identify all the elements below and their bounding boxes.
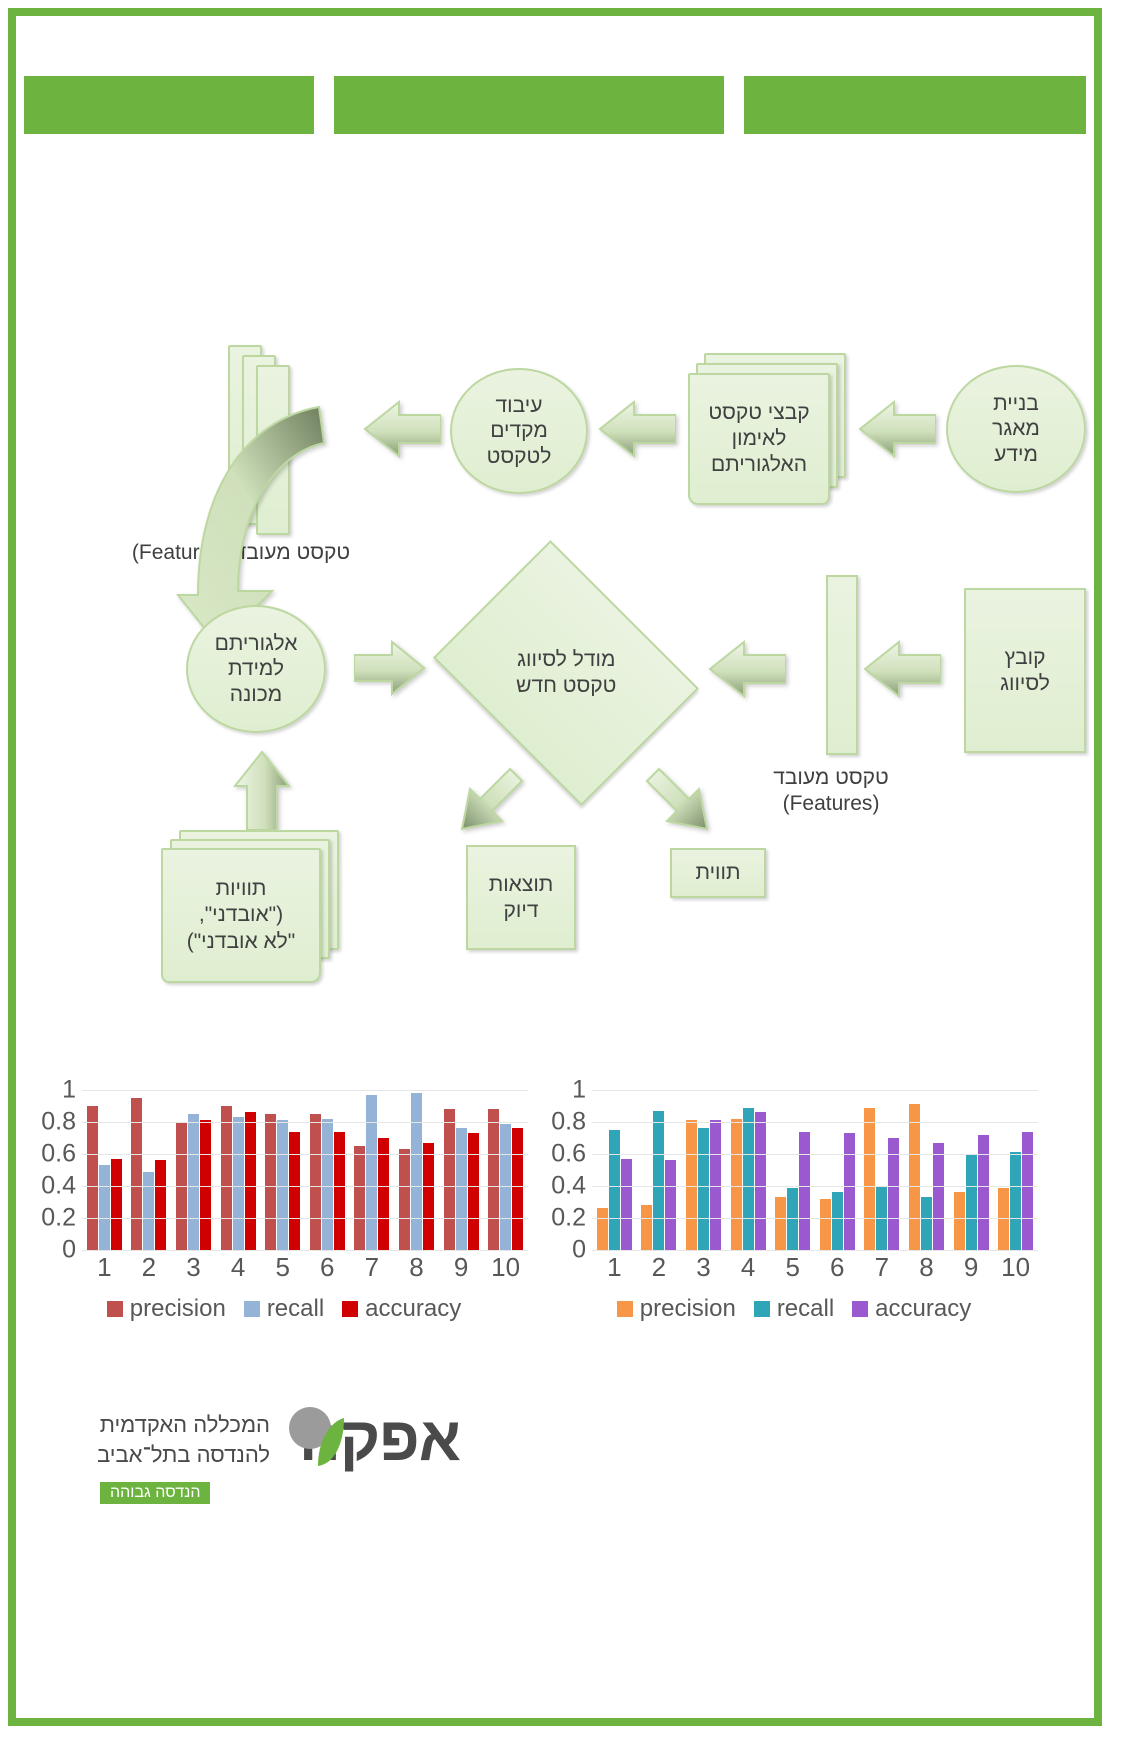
bar-recall xyxy=(609,1130,620,1250)
bar-precision xyxy=(444,1109,455,1250)
bar-group xyxy=(904,1090,949,1250)
bar-group xyxy=(637,1090,682,1250)
bar-accuracy xyxy=(289,1132,300,1250)
legend-label: recall xyxy=(777,1295,834,1323)
y-tick-label: 0.4 xyxy=(41,1172,76,1201)
x-tick-label: 3 xyxy=(171,1252,216,1283)
bar-recall xyxy=(743,1108,754,1250)
legend-label: recall xyxy=(267,1295,324,1323)
node-training-text-files-label: קבצי טקסט לאימון האלגוריתם xyxy=(708,400,809,479)
bar-group xyxy=(483,1090,528,1250)
gridline xyxy=(82,1186,528,1187)
bar-precision xyxy=(488,1109,499,1250)
header-band-block-2 xyxy=(334,76,724,134)
caption-features-right: טקסט מעובד (Features) xyxy=(731,765,931,818)
node-labels: תוויות ("אובדני", "לא אובדני") xyxy=(161,830,346,990)
gridline xyxy=(82,1090,528,1091)
arrow-preprocess-to-features xyxy=(363,400,441,458)
chart-right-y-axis: 00.20.40.60.81 xyxy=(544,1090,590,1250)
y-tick-label: 0.6 xyxy=(551,1140,586,1169)
chart-left-x-axis: 12345678910 xyxy=(82,1252,528,1283)
legend-swatch-icon xyxy=(754,1301,770,1317)
bar-group xyxy=(171,1090,216,1250)
bar-group xyxy=(350,1090,395,1250)
x-tick-label: 5 xyxy=(260,1252,305,1283)
y-tick-label: 0.8 xyxy=(551,1108,586,1137)
node-accuracy-results: תוצאות דיוק xyxy=(466,845,576,950)
chart-left: 00.20.40.60.81 12345678910 precisionreca… xyxy=(34,1090,534,1390)
afeka-logo: אפקה המכללה האקדמית להנדסה בתל־אביב הנדס… xyxy=(40,1400,460,1510)
bar-group xyxy=(260,1090,305,1250)
bar-precision xyxy=(87,1106,98,1250)
bar-group xyxy=(592,1090,637,1250)
bar-accuracy xyxy=(468,1133,479,1250)
logo-line-1: המכללה האקדמית xyxy=(40,1410,270,1440)
gridline xyxy=(592,1154,1038,1155)
bar-precision xyxy=(731,1119,742,1250)
node-data-repository-label: בניית מאגר מידע xyxy=(992,391,1040,468)
leaf-icon xyxy=(288,1406,346,1473)
x-tick-label: 4 xyxy=(726,1252,771,1283)
legend-item-precision: precision xyxy=(617,1295,736,1323)
chart-left-plot xyxy=(82,1090,528,1251)
y-tick-label: 0.2 xyxy=(41,1204,76,1233)
bar-group xyxy=(860,1090,905,1250)
bar-recall xyxy=(188,1114,199,1250)
y-tick-label: 1 xyxy=(62,1076,76,1105)
y-tick-label: 0 xyxy=(572,1236,586,1265)
arrow-repo-to-files xyxy=(858,400,936,458)
gridline xyxy=(82,1122,528,1123)
bar-group xyxy=(394,1090,439,1250)
arrow-features-to-model xyxy=(708,640,786,698)
x-tick-label: 7 xyxy=(350,1252,395,1283)
bar-recall xyxy=(322,1119,333,1250)
bar-recall xyxy=(411,1093,422,1250)
bar-accuracy xyxy=(155,1160,166,1250)
node-labels-label: תוויות ("אובדני", "לא אובדני") xyxy=(187,876,296,955)
arrow-model-to-accuracy xyxy=(448,765,526,843)
bar-recall xyxy=(456,1128,467,1250)
y-tick-label: 0.6 xyxy=(41,1140,76,1169)
chart-left-bars xyxy=(82,1090,528,1250)
x-tick-label: 3 xyxy=(681,1252,726,1283)
y-tick-label: 0.4 xyxy=(551,1172,586,1201)
chart-right-bars xyxy=(592,1090,1038,1250)
bar-precision xyxy=(641,1205,652,1250)
gridline xyxy=(592,1218,1038,1219)
gridline xyxy=(82,1154,528,1155)
legend-label: accuracy xyxy=(365,1295,461,1323)
pipeline-diagram: בניית מאגר מידע קבצי טקסט לאימון האלגורי… xyxy=(24,150,1086,1080)
arrow-file-to-features xyxy=(863,640,941,698)
bar-group xyxy=(726,1090,771,1250)
bar-accuracy xyxy=(621,1159,632,1250)
arrow-model-to-label xyxy=(643,765,721,843)
bar-recall xyxy=(966,1154,977,1250)
bar-recall xyxy=(99,1165,110,1250)
node-features-right xyxy=(826,575,858,755)
node-text-preprocessing: עיבוד מקדים לטקסט xyxy=(450,368,588,494)
bar-group xyxy=(127,1090,172,1250)
bar-group xyxy=(815,1090,860,1250)
node-label-output-label: תווית xyxy=(696,860,741,886)
legend-item-recall: recall xyxy=(244,1295,324,1323)
bar-accuracy xyxy=(245,1112,256,1250)
bar-precision xyxy=(131,1098,142,1250)
bar-group xyxy=(439,1090,484,1250)
arrow-labels-to-algorithm xyxy=(233,750,291,830)
chart-left-y-axis: 00.20.40.60.81 xyxy=(34,1090,80,1250)
y-tick-label: 0 xyxy=(62,1236,76,1265)
bar-recall xyxy=(366,1095,377,1250)
y-tick-label: 0.8 xyxy=(41,1108,76,1137)
x-tick-label: 10 xyxy=(993,1252,1038,1283)
legend-item-recall: recall xyxy=(754,1295,834,1323)
bar-accuracy xyxy=(111,1159,122,1250)
bar-group xyxy=(82,1090,127,1250)
bar-recall xyxy=(653,1111,664,1250)
bar-recall xyxy=(1010,1152,1021,1250)
gridline xyxy=(592,1090,1038,1091)
bar-accuracy xyxy=(334,1132,345,1250)
legend-label: precision xyxy=(130,1295,226,1323)
header-band-block-1 xyxy=(24,76,314,134)
legend-swatch-icon xyxy=(107,1301,123,1317)
x-tick-label: 5 xyxy=(770,1252,815,1283)
bar-accuracy xyxy=(755,1112,766,1250)
bar-recall xyxy=(143,1172,154,1250)
bar-precision xyxy=(265,1114,276,1250)
bar-group xyxy=(681,1090,726,1250)
gridline xyxy=(592,1250,1038,1251)
bar-precision xyxy=(597,1208,608,1250)
x-tick-label: 8 xyxy=(394,1252,439,1283)
chart-left-legend: precisionrecallaccuracy xyxy=(34,1295,534,1323)
x-tick-label: 1 xyxy=(82,1252,127,1283)
bar-precision xyxy=(310,1114,321,1250)
node-file-to-classify-label: קובץ לסיווג xyxy=(1000,645,1050,696)
bar-recall xyxy=(233,1117,244,1250)
bar-group xyxy=(949,1090,994,1250)
gridline xyxy=(82,1218,528,1219)
bar-precision xyxy=(864,1108,875,1250)
node-ml-algorithm-label: אלגוריתם למידת מכונה xyxy=(215,631,298,708)
bar-accuracy xyxy=(799,1132,810,1250)
node-classification-model-label: מודל לסיווג טקסט חדש xyxy=(463,647,669,698)
chart-right: 00.20.40.60.81 12345678910 precisionreca… xyxy=(544,1090,1044,1390)
legend-swatch-icon xyxy=(852,1301,868,1317)
bar-recall xyxy=(921,1197,932,1250)
x-tick-label: 10 xyxy=(483,1252,528,1283)
arrow-algorithm-to-model xyxy=(354,640,426,696)
x-tick-label: 7 xyxy=(860,1252,905,1283)
bar-precision xyxy=(909,1104,920,1250)
charts-container: 00.20.40.60.81 12345678910 precisionreca… xyxy=(24,1090,1086,1390)
bar-precision xyxy=(775,1197,786,1250)
legend-item-precision: precision xyxy=(107,1295,226,1323)
chart-right-legend: precisionrecallaccuracy xyxy=(544,1295,1044,1323)
x-tick-label: 2 xyxy=(127,1252,172,1283)
node-data-repository: בניית מאגר מידע xyxy=(946,365,1086,493)
poster: בניית מאגר מידע קבצי טקסט לאימון האלגורי… xyxy=(0,0,1126,1739)
bar-group xyxy=(216,1090,261,1250)
legend-label: precision xyxy=(640,1295,736,1323)
x-tick-label: 1 xyxy=(592,1252,637,1283)
logo-line-2: להנדסה בתל־אביב xyxy=(40,1440,270,1470)
bar-accuracy xyxy=(512,1128,523,1250)
legend-swatch-icon xyxy=(244,1301,260,1317)
node-label-output: תווית xyxy=(670,848,766,898)
y-tick-label: 1 xyxy=(572,1076,586,1105)
x-tick-label: 6 xyxy=(815,1252,860,1283)
node-file-to-classify: קובץ לסיווג xyxy=(964,588,1086,753)
logo-tagline: הנדסה גבוהה xyxy=(100,1482,210,1504)
y-tick-label: 0.2 xyxy=(551,1204,586,1233)
bar-accuracy xyxy=(978,1135,989,1250)
x-tick-label: 8 xyxy=(904,1252,949,1283)
bar-accuracy xyxy=(423,1143,434,1250)
bar-group xyxy=(993,1090,1038,1250)
x-tick-label: 2 xyxy=(637,1252,682,1283)
bar-precision xyxy=(221,1106,232,1250)
legend-swatch-icon xyxy=(342,1301,358,1317)
legend-item-accuracy: accuracy xyxy=(852,1295,971,1323)
bar-recall xyxy=(832,1192,843,1250)
bar-precision xyxy=(399,1149,410,1250)
bar-accuracy xyxy=(933,1143,944,1250)
x-tick-label: 4 xyxy=(216,1252,261,1283)
logo-subtitle: המכללה האקדמית להנדסה בתל־אביב xyxy=(40,1410,270,1469)
legend-swatch-icon xyxy=(617,1301,633,1317)
x-tick-label: 6 xyxy=(305,1252,350,1283)
bar-precision xyxy=(820,1199,831,1250)
gridline xyxy=(592,1186,1038,1187)
bar-accuracy xyxy=(665,1160,676,1250)
bar-recall xyxy=(698,1128,709,1250)
chart-right-plot xyxy=(592,1090,1038,1251)
x-tick-label: 9 xyxy=(439,1252,484,1283)
legend-item-accuracy: accuracy xyxy=(342,1295,461,1323)
node-text-preprocessing-label: עיבוד מקדים לטקסט xyxy=(487,393,552,470)
bar-precision xyxy=(354,1146,365,1250)
bar-precision xyxy=(954,1192,965,1250)
legend-label: accuracy xyxy=(875,1295,971,1323)
gridline xyxy=(82,1250,528,1251)
header-band xyxy=(24,76,1086,134)
arrow-files-to-preprocess xyxy=(598,400,676,458)
bar-accuracy xyxy=(844,1133,855,1250)
node-accuracy-results-label: תוצאות דיוק xyxy=(489,872,554,923)
chart-right-x-axis: 12345678910 xyxy=(592,1252,1038,1283)
x-tick-label: 9 xyxy=(949,1252,994,1283)
bar-group xyxy=(770,1090,815,1250)
bar-group xyxy=(305,1090,350,1250)
gridline xyxy=(592,1122,1038,1123)
header-band-block-3 xyxy=(744,76,1086,134)
bar-accuracy xyxy=(1022,1132,1033,1250)
node-training-text-files: קבצי טקסט לאימון האלגוריתם xyxy=(688,353,848,508)
node-ml-algorithm: אלגוריתם למידת מכונה xyxy=(186,605,326,733)
